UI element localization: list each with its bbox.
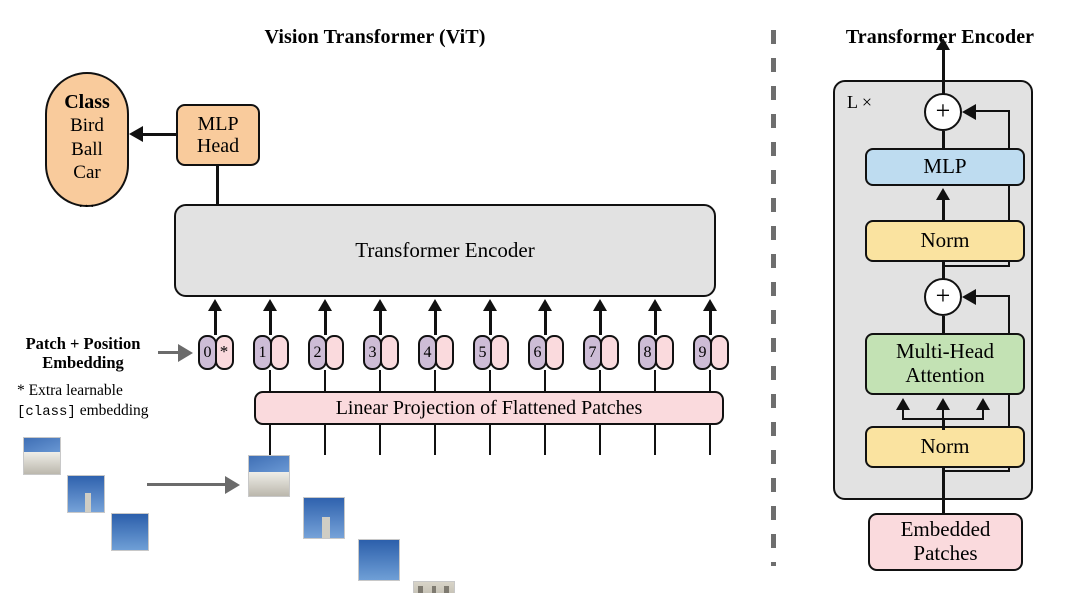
attention-to-add-line [942, 316, 945, 334]
token-4: 4 [418, 335, 454, 370]
token-3: 3 [363, 335, 399, 370]
norm-bottom-to-qkv-line [942, 418, 945, 430]
flattened-patch-strip [0, 0, 42, 378]
residual-top-horizontal [975, 110, 1010, 112]
flat-patch-0 [248, 455, 290, 497]
residual-bottom-tap [942, 470, 1010, 472]
mlp-head-to-encoder-line [216, 166, 219, 204]
transformer-encoder-box: Transformer Encoder [174, 204, 716, 297]
vit-architecture-diagram: Vision Transformer (ViT) Class Bird Ball… [0, 0, 1080, 593]
source-patch-0 [23, 437, 61, 475]
residual-add-bottom: + [924, 278, 962, 316]
token-1-patch [270, 335, 289, 370]
mlp-head-line2: Head [197, 135, 239, 157]
grid-to-strip-line [147, 483, 225, 486]
mlp-head-box: MLP Head [176, 104, 260, 166]
footnote-mono-token: [class] [17, 404, 76, 420]
token-6-patch [545, 335, 564, 370]
token-1: 1 [253, 335, 289, 370]
encoder-repeat-label: L × [847, 92, 872, 113]
class-heading: Class [64, 91, 110, 113]
token-2: 2 [308, 335, 344, 370]
mlp-block: MLP [865, 148, 1025, 186]
token-7: 7 [583, 335, 619, 370]
mlp-to-add-line [942, 131, 945, 149]
flat-patch-3 [413, 581, 455, 593]
residual-top-tap [942, 265, 1010, 267]
token-3-patch [380, 335, 399, 370]
token-9-patch [710, 335, 729, 370]
token-8-patch [655, 335, 674, 370]
class-item-bird: Bird [70, 114, 104, 137]
source-patch-2 [111, 513, 149, 551]
residual-top-arrowhead [962, 104, 976, 120]
attention-line2: Attention [905, 364, 984, 388]
mlp-head-to-class-line [142, 133, 176, 136]
source-patch-1 [67, 475, 105, 513]
flat-patch-2 [358, 539, 400, 581]
attention-line1: Multi-Head [896, 340, 994, 364]
embedded-patches-line2: Patches [913, 542, 977, 566]
class-ellipsis: ... [78, 191, 95, 212]
class-item-car: Car [73, 161, 100, 184]
token-6: 6 [528, 335, 564, 370]
token-5: 5 [473, 335, 509, 370]
multi-head-attention-block: Multi-Head Attention [865, 333, 1025, 395]
norm-top-block: Norm [865, 220, 1025, 262]
grid-to-strip-arrowhead [225, 476, 240, 494]
token-8: 8 [638, 335, 674, 370]
left-panel-title: Vision Transformer (ViT) [190, 26, 560, 49]
token-4-patch [435, 335, 454, 370]
footnote-line2: [class] embedding [17, 401, 192, 421]
token-9: 9 [693, 335, 729, 370]
footnote-line1: * Extra learnable [17, 381, 192, 401]
source-image-grid [23, 437, 61, 593]
encoder-output-arrowhead [936, 38, 950, 50]
class-item-ball: Ball [71, 138, 103, 161]
residual-bottom-arrowhead [962, 289, 976, 305]
token-7-patch [600, 335, 619, 370]
class-embedding-footnote: * Extra learnable [class] embedding [17, 381, 192, 421]
norm-top-to-mlp-arrowhead [936, 188, 950, 200]
panel-divider [771, 30, 776, 566]
embedded-patches-line1: Embedded [901, 518, 991, 542]
linear-projection-box: Linear Projection of Flattened Patches [254, 391, 724, 425]
residual-add-top: + [924, 93, 962, 131]
class-output-box: Class Bird Ball Car ... [45, 72, 129, 207]
embedding-label-arrowhead [178, 344, 193, 362]
flat-patch-1 [303, 497, 345, 539]
token-0: 0 * [198, 335, 234, 370]
footnote-line2-tail: embedding [76, 402, 149, 419]
mlp-head-line1: MLP [197, 113, 238, 135]
token-5-patch [490, 335, 509, 370]
token-2-patch [325, 335, 344, 370]
mlp-head-to-class-arrowhead [129, 126, 143, 142]
norm-bottom-block: Norm [865, 426, 1025, 468]
token-0-class-star: * [215, 335, 234, 370]
embedding-label-arrow-line [158, 351, 178, 354]
embedded-patches-block: Embedded Patches [868, 513, 1023, 571]
norm-top-to-mlp-line [942, 198, 945, 220]
residual-bottom-horizontal [975, 295, 1010, 297]
